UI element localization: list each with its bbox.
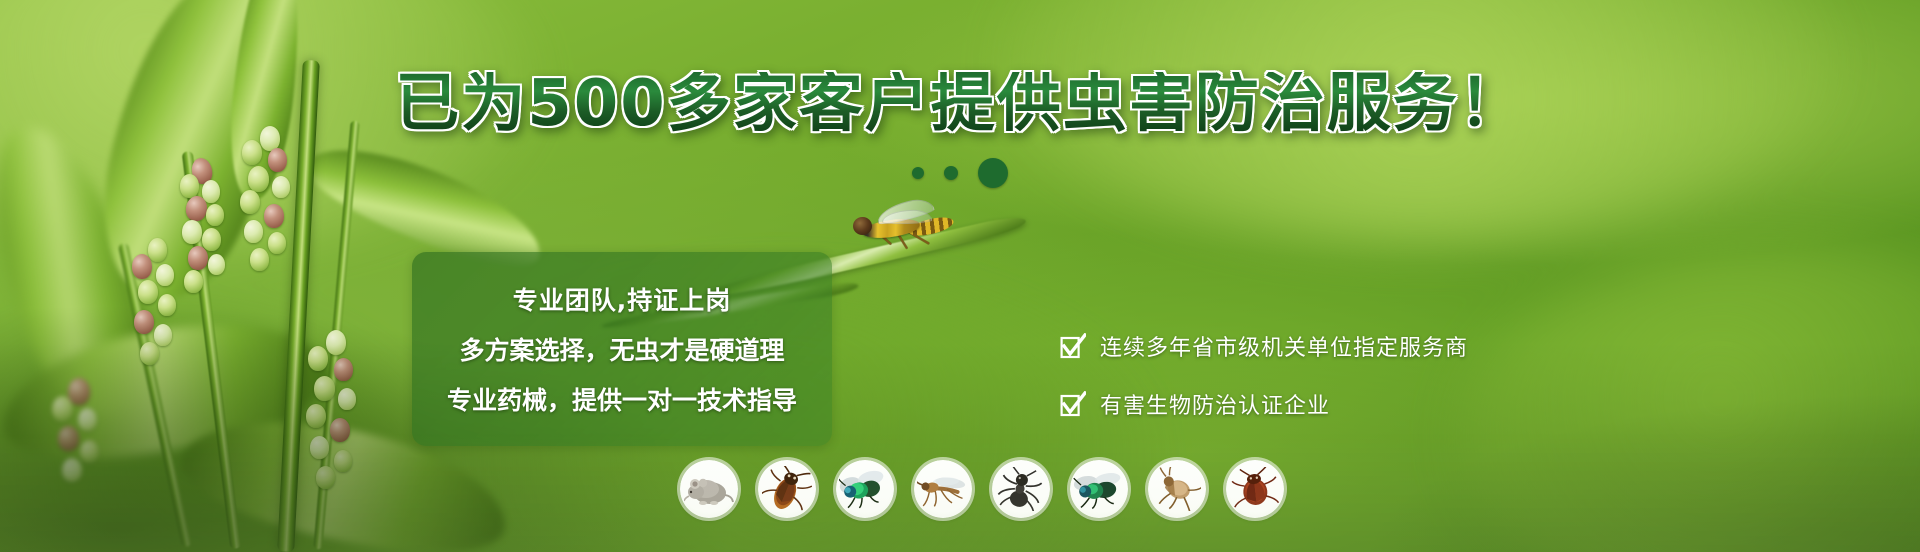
checklist-item-label: 有害生物防治认证企业 <box>1100 388 1330 420</box>
selling-point-line-1: 专业团队,持证上岗 <box>513 281 732 317</box>
checklist-item: 有害生物防治认证企业 <box>1060 388 1468 420</box>
selling-point-line-3: 专业药械，提供一对一技术指导 <box>447 381 797 417</box>
decor-dots <box>0 158 1920 188</box>
checklist-item: 连续多年省市级机关单位指定服务商 <box>1060 330 1468 362</box>
promo-banner: 已为500多家客户提供虫害防治服务！ 专业团队,持证上岗 多方案选择，无虫才是硬… <box>0 0 1920 552</box>
dot-large-icon <box>978 158 1008 188</box>
bedbug-icon <box>1226 460 1284 518</box>
hover-fly-insect <box>842 196 962 258</box>
ant-icon <box>992 460 1050 518</box>
checklist-item-label: 连续多年省市级机关单位指定服务商 <box>1100 330 1468 362</box>
credentials-checklist: 连续多年省市级机关单位指定服务商 有害生物防治认证企业 <box>1060 330 1468 420</box>
dot-small-icon <box>912 167 924 179</box>
checkbox-checked-icon <box>1060 333 1086 359</box>
dot-medium-icon <box>944 166 958 180</box>
flea-icon <box>1148 460 1206 518</box>
green-bottle-fly-icon <box>836 460 894 518</box>
checkbox-checked-icon <box>1060 391 1086 417</box>
cockroach-icon <box>758 460 816 518</box>
pest-icon-row <box>680 460 1284 518</box>
mosquito-icon <box>914 460 972 518</box>
mouse-icon <box>680 460 738 518</box>
selling-points-text: 专业团队,持证上岗 多方案选择，无虫才是硬道理 专业药械，提供一对一技术指导 <box>412 252 832 446</box>
banner-headline: 已为500多家客户提供虫害防治服务！ <box>0 72 1920 136</box>
selling-point-line-2: 多方案选择，无虫才是硬道理 <box>459 331 784 367</box>
housefly-icon <box>1070 460 1128 518</box>
